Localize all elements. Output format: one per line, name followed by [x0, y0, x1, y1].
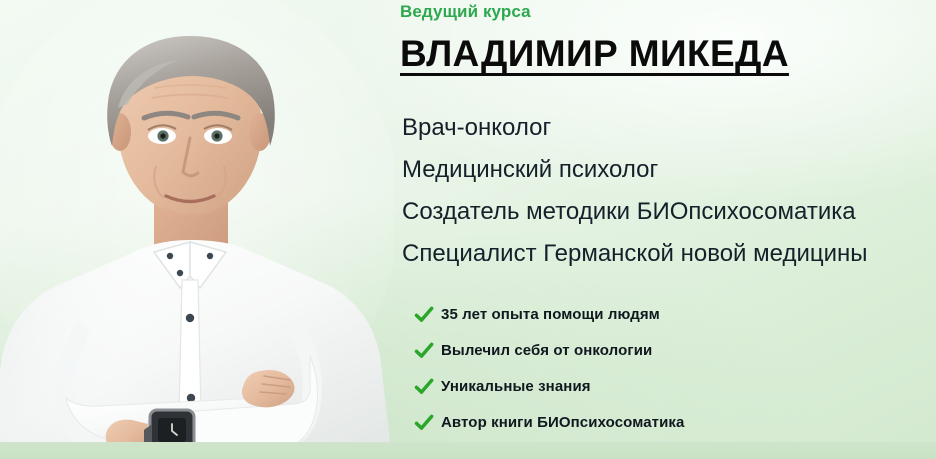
check-icon [414, 304, 434, 324]
presenter-banner: Ведущий курса ВЛАДИМИР МИКЕДА Врач-онкол… [0, 0, 936, 459]
credential-item: Специалист Германской новой медицины [402, 233, 868, 275]
credential-item: Врач-онколог [402, 107, 868, 149]
presenter-info: Ведущий курса ВЛАДИМИР МИКЕДА Врач-онкол… [400, 0, 936, 459]
credentials-list: Врач-онколог Медицинский психолог Создат… [402, 107, 868, 275]
credential-item: Медицинский психолог [402, 149, 868, 191]
eyebrow-label: Ведущий курса [400, 2, 531, 22]
highlight-item: Вылечил себя от онкологии [414, 332, 684, 368]
highlight-item: 35 лет опыта помощи людям [414, 296, 684, 332]
highlight-label: Автор книги БИОпсихосоматика [441, 414, 684, 431]
highlight-item: Уникальные знания [414, 368, 684, 404]
check-icon [414, 376, 434, 396]
presenter-portrait [0, 0, 394, 459]
highlight-label: 35 лет опыта помощи людям [441, 306, 660, 323]
check-icon [414, 412, 434, 432]
check-icon [414, 340, 434, 360]
person-photo-icon [0, 0, 394, 459]
highlight-label: Уникальные знания [441, 378, 591, 395]
credential-item: Создатель методики БИОпсихосоматика [402, 191, 868, 233]
highlights-list: 35 лет опыта помощи людям Вылечил себя о… [414, 296, 684, 440]
highlight-label: Вылечил себя от онкологии [441, 342, 652, 359]
highlight-item: Автор книги БИОпсихосоматика [414, 404, 684, 440]
presenter-name: ВЛАДИМИР МИКЕДА [400, 33, 789, 75]
